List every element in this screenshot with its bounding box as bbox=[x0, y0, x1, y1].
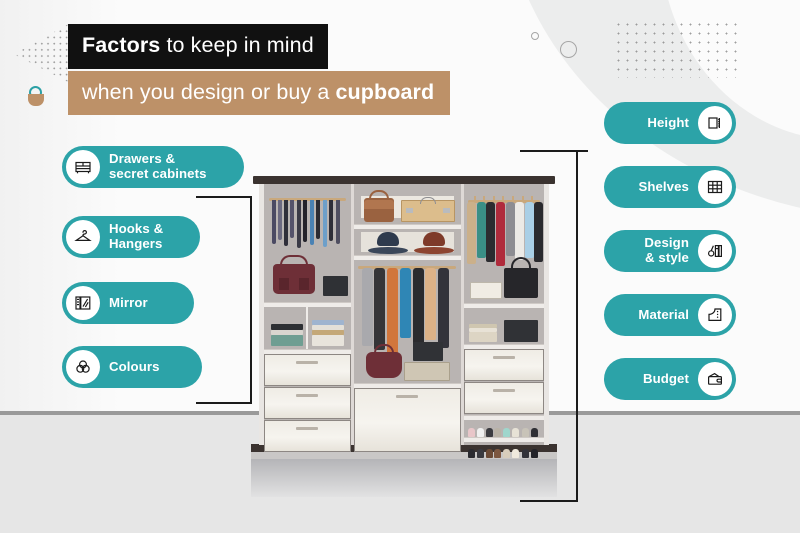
hanging-coat bbox=[425, 268, 436, 340]
dark-box bbox=[413, 342, 443, 361]
mirror-icon bbox=[66, 286, 100, 320]
black-tote-bag bbox=[504, 268, 538, 298]
material-swatch-icon bbox=[698, 298, 732, 332]
title-line-1: Factors to keep in mind bbox=[68, 24, 328, 69]
hanging-coat bbox=[413, 268, 424, 352]
drawers-icon bbox=[66, 150, 100, 184]
wardrobe-reflection bbox=[251, 459, 557, 497]
shelves-grid-icon bbox=[698, 170, 732, 204]
pill-label: Design & style bbox=[644, 236, 689, 266]
dot-grid-pattern-top-right bbox=[614, 20, 742, 78]
brown-satchel bbox=[364, 198, 394, 222]
design-tools-icon bbox=[698, 234, 732, 268]
pill-budget[interactable]: Budget bbox=[604, 358, 736, 400]
left-connector-bracket bbox=[196, 196, 252, 404]
drawer bbox=[464, 349, 544, 381]
left-column bbox=[264, 184, 351, 445]
right-column bbox=[464, 184, 544, 445]
shoe-shelf bbox=[464, 420, 544, 437]
pill-label: Colours bbox=[109, 360, 160, 375]
shoe-shelf bbox=[464, 442, 544, 458]
navy-hat bbox=[368, 232, 408, 254]
pill-shelves[interactable]: Shelves bbox=[604, 166, 736, 208]
pill-design-style[interactable]: Design & style bbox=[604, 230, 736, 272]
title-line-1-rest: to keep in mind bbox=[160, 33, 313, 57]
wide-drawer bbox=[354, 388, 460, 452]
hanging-shirt bbox=[506, 202, 515, 256]
title-bold-cupboard: cupboard bbox=[336, 80, 435, 104]
brown-hat bbox=[414, 232, 454, 254]
pill-hooks-hangers[interactable]: Hooks & Hangers bbox=[62, 216, 200, 258]
page-title: Factors to keep in mind when you design … bbox=[68, 24, 450, 115]
white-box bbox=[470, 282, 502, 299]
title-bold-factors: Factors bbox=[82, 33, 160, 57]
pill-label: Material bbox=[638, 308, 689, 323]
hanging-shirt bbox=[515, 202, 524, 260]
drawer bbox=[264, 420, 351, 452]
pill-drawers-secret-cabinets[interactable]: Drawers & secret cabinets bbox=[62, 146, 244, 188]
dark-box bbox=[504, 320, 538, 342]
drawer bbox=[264, 387, 351, 419]
hanging-coat bbox=[387, 268, 398, 354]
pill-label: Shelves bbox=[638, 180, 689, 195]
pill-label: Hooks & Hangers bbox=[109, 222, 163, 252]
dark-storage-box bbox=[323, 276, 348, 296]
hanging-coat bbox=[374, 268, 385, 350]
hanging-shirt bbox=[525, 202, 534, 258]
hanging-shirt bbox=[496, 202, 505, 266]
shelf bbox=[354, 224, 460, 229]
pill-colours[interactable]: Colours bbox=[62, 346, 202, 388]
title-line-2: when you design or buy a cupboard bbox=[68, 71, 450, 116]
shelf bbox=[354, 255, 460, 260]
hanging-shirt bbox=[467, 202, 476, 264]
pill-label: Drawers & secret cabinets bbox=[109, 152, 207, 182]
wallet-icon bbox=[698, 362, 732, 396]
pill-height[interactable]: Height bbox=[604, 102, 736, 144]
drawer bbox=[464, 382, 544, 414]
height-measure-icon bbox=[698, 106, 732, 140]
hanging-coat bbox=[362, 268, 373, 346]
beige-box bbox=[404, 362, 450, 381]
burgundy-duffle-bag bbox=[366, 352, 402, 378]
burgundy-handbag bbox=[273, 264, 315, 294]
drawer bbox=[264, 354, 351, 386]
pill-label: Budget bbox=[643, 372, 689, 387]
shelf bbox=[464, 303, 544, 308]
pill-material[interactable]: Material bbox=[604, 294, 736, 336]
colour-circles-icon bbox=[66, 350, 100, 384]
pill-label: Mirror bbox=[109, 296, 148, 311]
decorative-circle-small bbox=[531, 32, 539, 40]
hanging-shirt bbox=[534, 202, 543, 262]
infographic-canvas: Factors to keep in mind when you design … bbox=[0, 0, 800, 533]
wardrobe-top-cornice bbox=[253, 176, 555, 184]
title-line-2-rest: when you design or buy a bbox=[82, 80, 336, 104]
wardrobe-body bbox=[259, 184, 549, 445]
basket-icon bbox=[27, 86, 45, 106]
decorative-circle-large bbox=[560, 41, 577, 58]
open-wardrobe-illustration bbox=[259, 176, 549, 459]
hanging-shirt bbox=[486, 202, 495, 262]
hanging-shirt bbox=[477, 202, 486, 258]
pill-label: Height bbox=[647, 116, 689, 131]
hanging-coat bbox=[400, 268, 411, 338]
pill-mirror[interactable]: Mirror bbox=[62, 282, 194, 324]
hanger-icon bbox=[66, 220, 100, 254]
hanging-coat bbox=[438, 268, 449, 348]
tan-suitcase bbox=[401, 200, 455, 222]
center-column bbox=[354, 184, 460, 445]
